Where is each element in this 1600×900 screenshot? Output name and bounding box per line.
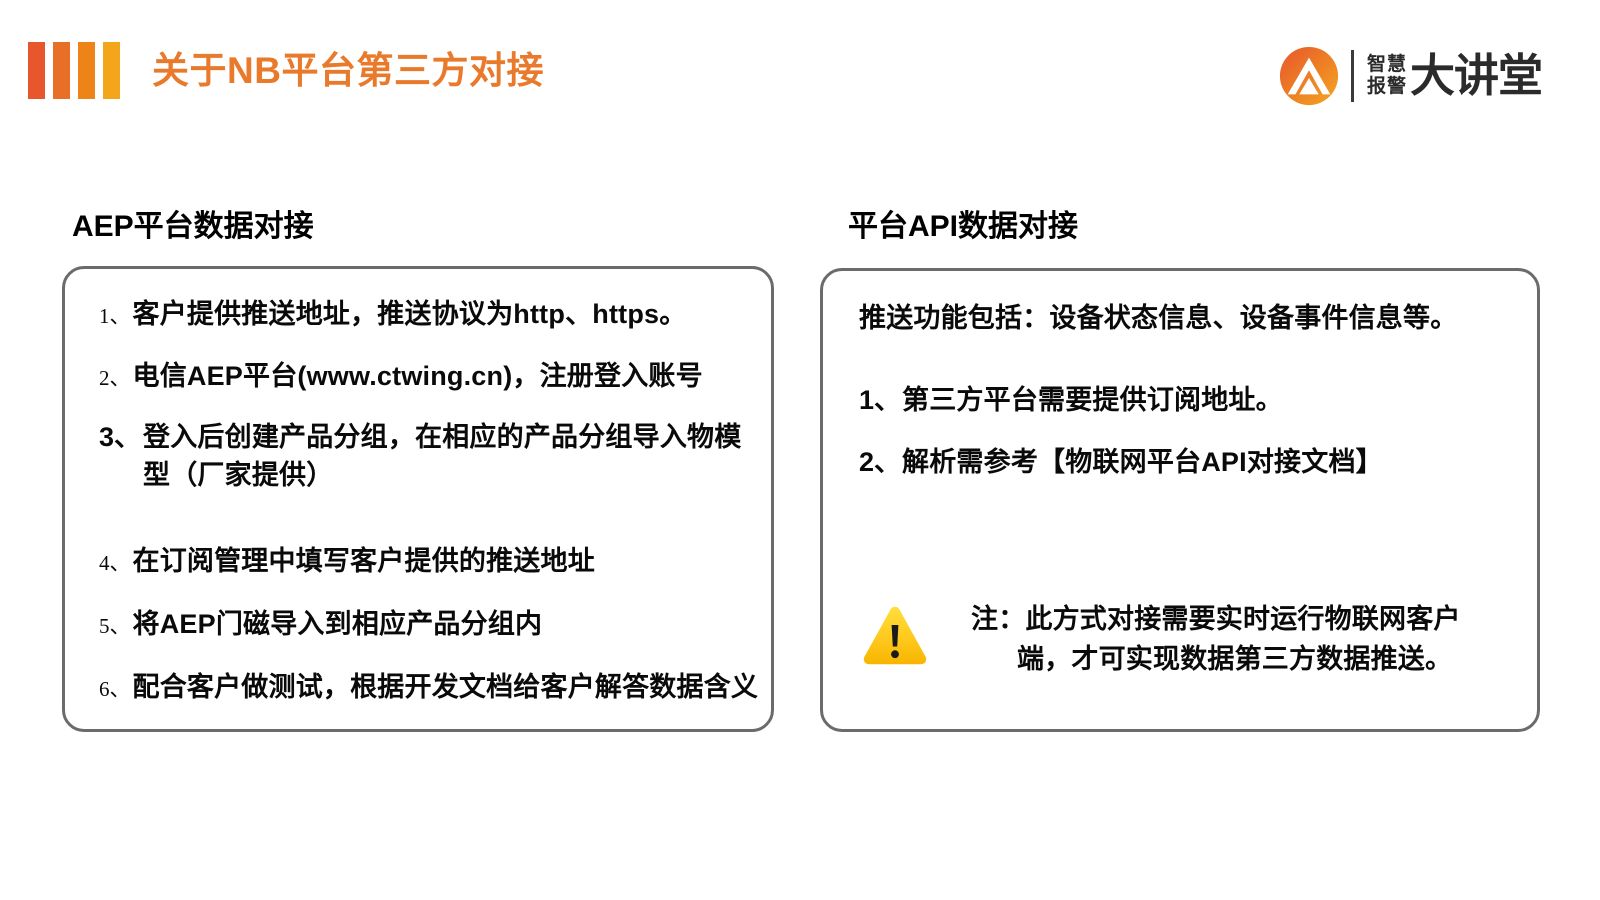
list-item-text: 登入后创建产品分组，在相应的产品分组导入物模型（厂家提供） (143, 418, 759, 494)
list-item: 2、 解析需参考【物联网平台API对接文档】 (859, 443, 1509, 481)
list-item-text: 解析需参考【物联网平台API对接文档】 (902, 443, 1509, 481)
list-item: 4、 在订阅管理中填写客户提供的推送地址 (99, 543, 747, 579)
list-item-text: 第三方平台需要提供订阅地址。 (902, 381, 1509, 419)
note-line-1: 注：此方式对接需要实时运行物联网客户 (971, 604, 1461, 634)
note-line-2: 端，才可实现数据第三方数据推送。 (971, 639, 1461, 679)
list-item: 5、 将AEP门磁导入到相应产品分组内 (99, 606, 747, 642)
list-item-text: 客户提供推送地址，推送协议为http、https。 (133, 296, 748, 332)
list-item-text: 电信AEP平台(www.ctwing.cn)，注册登入账号 (133, 358, 748, 394)
logo-sub-char-1: 智 (1367, 55, 1385, 75)
list-item-number: 6、 (99, 674, 131, 704)
left-column-heading: AEP平台数据对接 (72, 207, 314, 247)
right-content-panel: 推送功能包括：设备状态信息、设备事件信息等。 1、 第三方平台需要提供订阅地址。… (820, 268, 1540, 732)
logo-subtitle: 智 慧 报 警 (1367, 55, 1405, 97)
page-title: 关于NB平台第三方对接 (152, 44, 544, 97)
logo-sub-char-3: 报 (1367, 77, 1385, 97)
note-text: 注：此方式对接需要实时运行物联网客户 端，才可实现数据第三方数据推送。 (971, 599, 1461, 679)
note-callout: 注：此方式对接需要实时运行物联网客户 端，才可实现数据第三方数据推送。 (861, 599, 1521, 679)
list-item-number: 3、 (99, 418, 141, 456)
list-item-text: 在订阅管理中填写客户提供的推送地址 (133, 543, 748, 579)
list-item-text: 将AEP门磁导入到相应产品分组内 (133, 606, 748, 642)
mountain-circle-logo-icon (1278, 45, 1340, 107)
list-item-text: 配合客户做测试，根据开发文档给客户解答数据含义 (133, 669, 772, 705)
list-item-number: 1、 (859, 381, 901, 419)
right-column-heading: 平台API数据对接 (848, 207, 1078, 247)
list-item-number: 1、 (99, 301, 131, 331)
list-item: 1、 客户提供推送地址，推送协议为http、https。 (99, 296, 747, 332)
list-item-number: 2、 (99, 363, 131, 393)
list-item: 6、 配合客户做测试，根据开发文档给客户解答数据含义 (99, 669, 771, 705)
slide-header: 关于NB平台第三方对接 智 慧 报 警 大讲堂 (0, 0, 1600, 130)
logo-wordmark: 大讲堂 (1410, 51, 1542, 101)
right-panel-lead-text: 推送功能包括：设备状态信息、设备事件信息等。 (859, 299, 1509, 337)
logo-sub-char-4: 警 (1387, 77, 1405, 97)
logo-sub-char-2: 慧 (1387, 55, 1405, 75)
list-item-number: 5、 (99, 611, 131, 641)
header-bar-4 (103, 42, 120, 99)
list-item: 1、 第三方平台需要提供订阅地址。 (859, 381, 1509, 419)
logo-divider (1351, 50, 1354, 102)
left-content-panel: 1、 客户提供推送地址，推送协议为http、https。 2、 电信AEP平台(… (62, 266, 774, 732)
list-item: 2、 电信AEP平台(www.ctwing.cn)，注册登入账号 (99, 358, 747, 394)
header-accent-bars (28, 42, 120, 99)
warning-triangle-icon (861, 605, 929, 667)
header-bar-2 (53, 42, 70, 99)
brand-logo: 智 慧 报 警 大讲堂 (1278, 40, 1542, 112)
list-item-number: 2、 (859, 443, 901, 481)
header-bar-1 (28, 42, 45, 99)
list-item: 3、 登入后创建产品分组，在相应的产品分组导入物模型（厂家提供） (99, 418, 759, 494)
header-bar-3 (78, 42, 95, 99)
list-item-number: 4、 (99, 548, 131, 578)
